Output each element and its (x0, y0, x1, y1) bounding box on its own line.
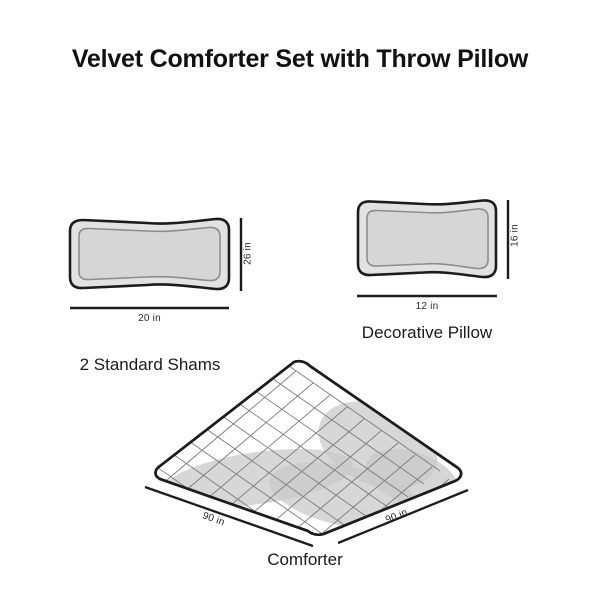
page-title: Velvet Comforter Set with Throw Pillow (0, 45, 600, 74)
product-dimension-diagram: Velvet Comforter Set with Throw Pillow 2… (0, 0, 600, 600)
product-caption-decorative-pillow: Decorative Pillow (337, 323, 517, 343)
product-decorative-pillow: 16 in 12 in Decorative Pillow (340, 180, 560, 350)
quilted-blanket-icon-comforter: 90 in 90 in (140, 350, 470, 550)
pillow-icon-standard-shams (50, 200, 300, 360)
dimension-label-height-pillow: 16 in (510, 221, 521, 251)
dimension-label-width-shams: 20 in (70, 313, 229, 324)
product-caption-comforter: Comforter (225, 550, 385, 570)
dimension-label-height-shams: 26 in (243, 239, 254, 269)
dimension-label-width-pillow: 12 in (357, 301, 497, 312)
product-comforter: 90 in 90 in Comforter (140, 350, 470, 590)
dimension-label-depth-comforter: 90 in (384, 507, 409, 526)
pillow-icon-decorative-pillow (340, 180, 560, 320)
